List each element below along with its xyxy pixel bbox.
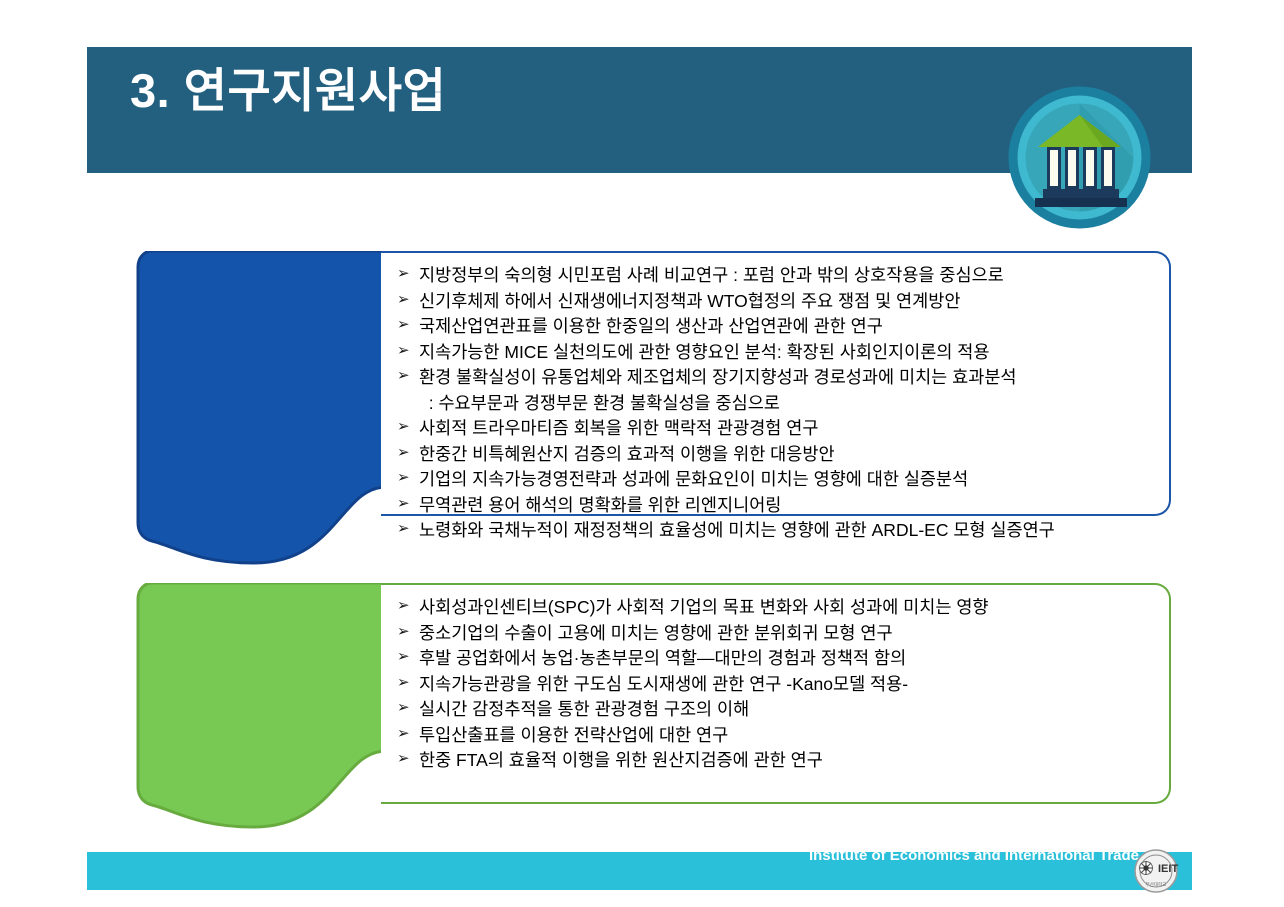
chevron-bullet-icon: ➢ [397,340,410,362]
list-item-label: 후발 공업화에서 농업·농촌부문의 역할—대만의 경험과 정책적 함의 [419,648,906,668]
list-item-label: 기업의 지속가능경영전략과 성과에 문화요인이 미치는 영향에 대한 실증분석 [419,469,968,489]
list-item: ➢무역관련 용어 해석의 명확화를 위한 리엔지니어링 [395,493,1155,519]
chevron-bullet-icon: ➢ [397,493,410,515]
list-item: ➢환경 불확실성이 유통업체와 제조업체의 장기지향성과 경로성과에 미치는 효… [395,365,1155,416]
list-item-label: 중소기업의 수출이 고용에 미치는 영향에 관한 분위회귀 모형 연구 [419,623,893,643]
chevron-bullet-icon: ➢ [397,442,410,464]
list-item-label: 실시간 감정추적을 통한 관광경험 구조의 이해 [419,699,749,719]
page-title: 3. 연구지원사업 [130,63,446,119]
list-item-label: 신기후체제 하에서 신재생에너지정책과 WTO협정의 주요 쟁점 및 연계방안 [419,291,960,311]
chevron-bullet-icon: ➢ [397,697,410,719]
list-item: ➢후발 공업화에서 농업·농촌부문의 역할—대만의 경험과 정책적 함의 [395,646,1155,672]
footer-english-name: Institute of Economics and International… [809,846,1139,866]
content-panel-blue: ➢지방정부의 숙의형 시민포럼 사례 비교연구 : 포럼 안과 밖의 상호작용을… [381,251,1171,516]
chevron-bullet-icon: ➢ [397,748,410,770]
chevron-bullet-icon: ➢ [397,365,410,387]
chevron-bullet-icon: ➢ [397,595,410,617]
list-item: ➢중소기업의 수출이 고용에 미치는 영향에 관한 분위회귀 모형 연구 [395,621,1155,647]
chevron-bullet-icon: ➢ [397,467,410,489]
ieit-seal-icon: IEIT 부산대학교 [1133,848,1179,894]
content-panel-green: ➢사회성과인센티브(SPC)가 사회적 기업의 목표 변화와 사회 성과에 미치… [381,583,1171,804]
list-item-label: 투입산출표를 이용한 전략산업에 대한 연구 [419,725,728,745]
list-item: ➢사회성과인센티브(SPC)가 사회적 기업의 목표 변화와 사회 성과에 미치… [395,595,1155,621]
footer-text: 부산대학교 경제통상연구원 Institute of Economics and… [809,824,1139,866]
list-item-label: 환경 불확실성이 유통업체와 제조업체의 장기지향성과 경로성과에 미치는 효과… [419,367,1017,413]
list-item-label: 지방정부의 숙의형 시민포럼 사례 비교연구 : 포럼 안과 밖의 상호작용을 … [419,265,1004,285]
section-label-shape-green [136,583,386,832]
section-label-shape-blue [136,251,386,568]
chevron-bullet-icon: ➢ [397,646,410,668]
chevron-bullet-icon: ➢ [397,314,410,336]
list-item-label: 국제산업연관표를 이용한 한중일의 생산과 산업연관에 관한 연구 [419,316,883,336]
list-item: ➢노령화와 국채누적이 재정정책의 효율성에 미치는 영향에 관한 ARDL-E… [395,518,1155,544]
list-item-label: 사회적 트라우마티즘 회복을 위한 맥락적 관광경험 연구 [419,418,818,438]
list-item: ➢실시간 감정추적을 통한 관광경험 구조의 이해 [395,697,1155,723]
research-topic-list-blue: ➢지방정부의 숙의형 시민포럼 사례 비교연구 : 포럼 안과 밖의 상호작용을… [395,263,1155,544]
list-item-label: 무역관련 용어 해석의 명확화를 위한 리엔지니어링 [419,495,781,515]
svg-text:IEIT: IEIT [1158,863,1178,875]
list-item: ➢지속가능한 MICE 실천의도에 관한 영향요인 분석: 확장된 사회인지이론… [395,340,1155,366]
chevron-bullet-icon: ➢ [397,518,410,540]
chevron-bullet-icon: ➢ [397,289,410,311]
list-item: ➢신기후체제 하에서 신재생에너지정책과 WTO협정의 주요 쟁점 및 연계방안 [395,289,1155,315]
chevron-bullet-icon: ➢ [397,263,410,285]
chevron-bullet-icon: ➢ [397,672,410,694]
list-item-label: 지속가능한 MICE 실천의도에 관한 영향요인 분석: 확장된 사회인지이론의… [419,342,990,362]
list-item: ➢국제산업연관표를 이용한 한중일의 생산과 산업연관에 관한 연구 [395,314,1155,340]
list-item: ➢한중간 비특혜원산지 검증의 효과적 이행을 위한 대응방안 [395,442,1155,468]
list-item-label: 한중간 비특혜원산지 검증의 효과적 이행을 위한 대응방안 [419,444,835,464]
list-item-label: 사회성과인센티브(SPC)가 사회적 기업의 목표 변화와 사회 성과에 미치는… [419,597,989,617]
footer-korean-name: 부산대학교 경제통상연구원 [809,824,1139,846]
research-topic-list-green: ➢사회성과인센티브(SPC)가 사회적 기업의 목표 변화와 사회 성과에 미치… [395,595,1155,774]
institution-building-icon [1007,85,1152,230]
list-item-label: 한중 FTA의 효율적 이행을 위한 원산지검증에 관한 연구 [419,750,823,770]
list-item-label: 지속가능관광을 위한 구도심 도시재생에 관한 연구 -Kano모델 적용- [419,674,908,694]
chevron-bullet-icon: ➢ [397,416,410,438]
list-item-label: 노령화와 국채누적이 재정정책의 효율성에 미치는 영향에 관한 ARDL-EC… [419,520,1055,540]
chevron-bullet-icon: ➢ [397,723,410,745]
list-item: ➢한중 FTA의 효율적 이행을 위한 원산지검증에 관한 연구 [395,748,1155,774]
list-item: ➢지방정부의 숙의형 시민포럼 사례 비교연구 : 포럼 안과 밖의 상호작용을… [395,263,1155,289]
chevron-bullet-icon: ➢ [397,621,410,643]
list-item: ➢지속가능관광을 위한 구도심 도시재생에 관한 연구 -Kano모델 적용- [395,672,1155,698]
list-item: ➢투입산출표를 이용한 전략산업에 대한 연구 [395,723,1155,749]
list-item: ➢기업의 지속가능경영전략과 성과에 문화요인이 미치는 영향에 대한 실증분석 [395,467,1155,493]
svg-text:부산대학교: 부산대학교 [1146,881,1167,888]
list-item: ➢사회적 트라우마티즘 회복을 위한 맥락적 관광경험 연구 [395,416,1155,442]
